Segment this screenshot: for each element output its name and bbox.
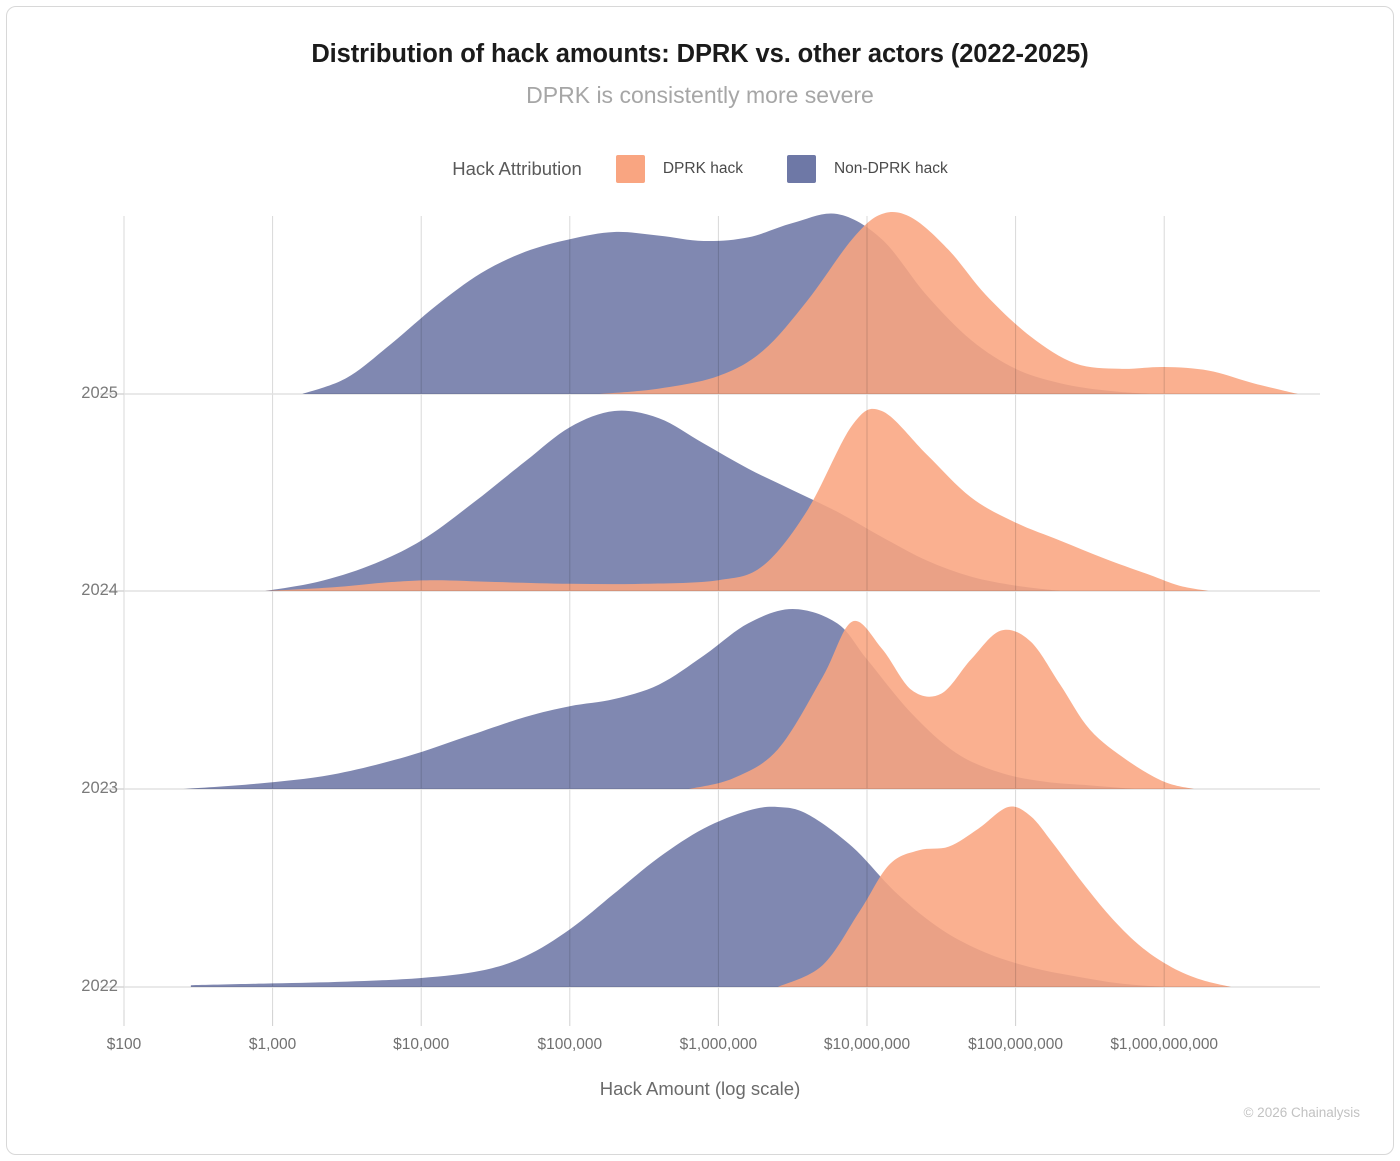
y-tick-label-2023: 2023	[48, 779, 118, 798]
x-tick-label-7: $1,000,000,000	[1110, 1036, 1218, 1054]
x-tick-label-6: $100,000,000	[968, 1036, 1063, 1054]
x-axis-title: Hack Amount (log scale)	[0, 1078, 1400, 1100]
x-tick-label-5: $10,000,000	[824, 1036, 910, 1054]
y-tick-label-2024: 2024	[48, 581, 118, 600]
ridge-row-2024	[265, 409, 1209, 591]
ridgeline-plot-svg	[0, 0, 1400, 1161]
y-tick-label-2022: 2022	[48, 977, 118, 996]
footer-credit: © 2026 Chainalysis	[1243, 1105, 1360, 1120]
ridge-row-2023	[183, 609, 1193, 789]
ridge-row-2022	[191, 807, 1231, 987]
x-tick-label-4: $1,000,000	[680, 1036, 758, 1054]
x-tick-label-1: $1,000	[249, 1036, 296, 1054]
y-tick-label-2025: 2025	[48, 384, 118, 403]
plot-area: 2025202420232022 $100$1,000$10,000$100,0…	[0, 0, 1400, 1161]
x-tick-label-3: $100,000	[537, 1036, 602, 1054]
ridge-row-2025	[302, 212, 1298, 394]
x-tick-label-0: $100	[107, 1036, 141, 1054]
x-tick-label-2: $10,000	[393, 1036, 449, 1054]
chart-page: Distribution of hack amounts: DPRK vs. o…	[0, 0, 1400, 1161]
